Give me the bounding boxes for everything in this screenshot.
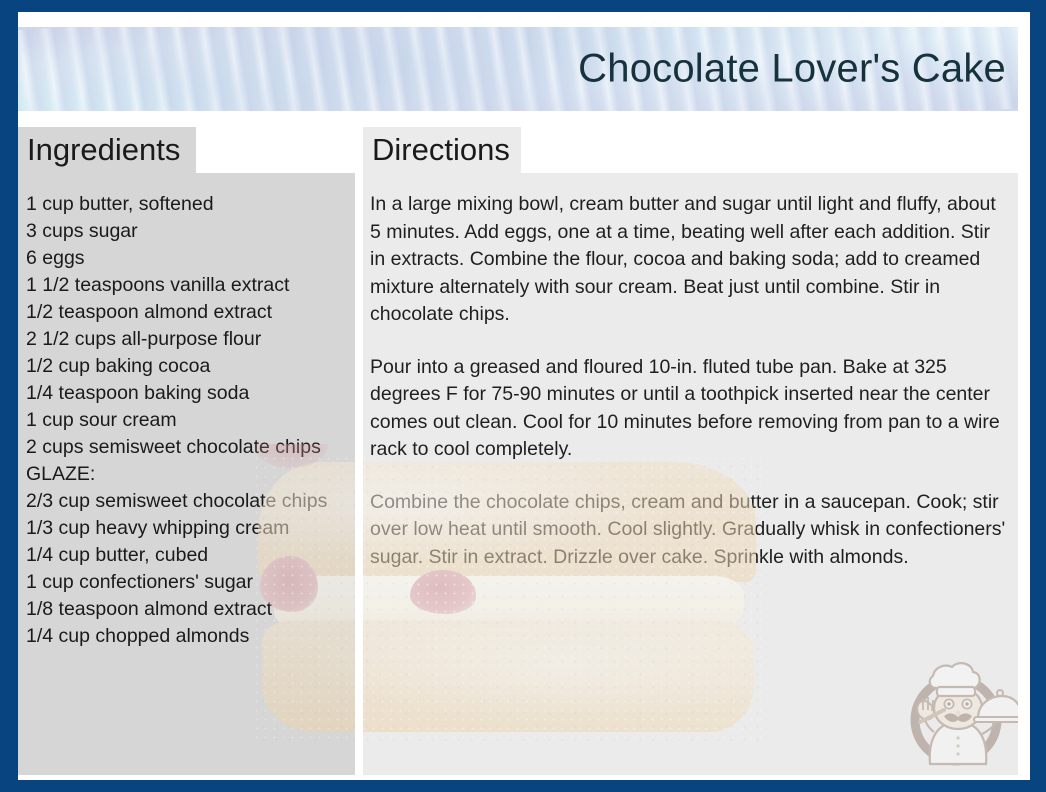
recipe-title: Chocolate Lover's Cake [578,47,1006,92]
directions-heading: Directions [363,127,521,173]
directions-paragraph: Combine the chocolate chips, cream and b… [370,489,1010,572]
list-item: 1 cup butter, softened [26,191,352,218]
list-item: 2/3 cup semisweet chocolate chips [26,488,352,515]
list-item: 2 cups semisweet chocolate chips [26,434,352,461]
list-item: 6 eggs [26,245,352,272]
directions-panel: Directions In a large mixing bowl, cream… [363,127,1018,775]
card-mat-bottom-edge [18,775,1030,780]
directions-paragraph: Pour into a greased and floured 10-in. f… [370,354,1010,464]
ingredients-panel: Ingredients 1 cup butter, softened 3 cup… [18,127,355,775]
list-item: 1/4 teaspoon baking soda [26,380,352,407]
list-item: 3 cups sugar [26,218,352,245]
ingredients-heading-gap [196,127,355,173]
list-item: 1/3 cup heavy whipping cream [26,515,352,542]
directions-heading-gap [521,127,1018,173]
ingredients-list: 1 cup butter, softened 3 cups sugar 6 eg… [26,191,352,650]
list-item: 1 cup sour cream [26,407,352,434]
directions-body: In a large mixing bowl, cream butter and… [370,191,1010,596]
recipe-card: Chocolate Lover's Cake Ingredients 1 cup… [0,0,1046,792]
title-banner: Chocolate Lover's Cake [18,27,1028,111]
list-item: 1 cup confectioners' sugar [26,569,352,596]
list-item: 2 1/2 cups all-purpose flour [26,326,352,353]
ingredients-heading: Ingredients [18,127,196,173]
list-item: 1/2 teaspoon almond extract [26,299,352,326]
directions-paragraph: In a large mixing bowl, cream butter and… [370,191,1010,329]
list-item: 1/4 cup chopped almonds [26,623,352,650]
list-item: 1 1/2 teaspoons vanilla extract [26,272,352,299]
list-item: 1/8 teaspoon almond extract [26,596,352,623]
list-item: GLAZE: [26,461,352,488]
card-mat-right-edge [1018,12,1030,780]
list-item: 1/2 cup baking cocoa [26,353,352,380]
list-item: 1/4 cup butter, cubed [26,542,352,569]
panel-column-gap [355,127,363,775]
